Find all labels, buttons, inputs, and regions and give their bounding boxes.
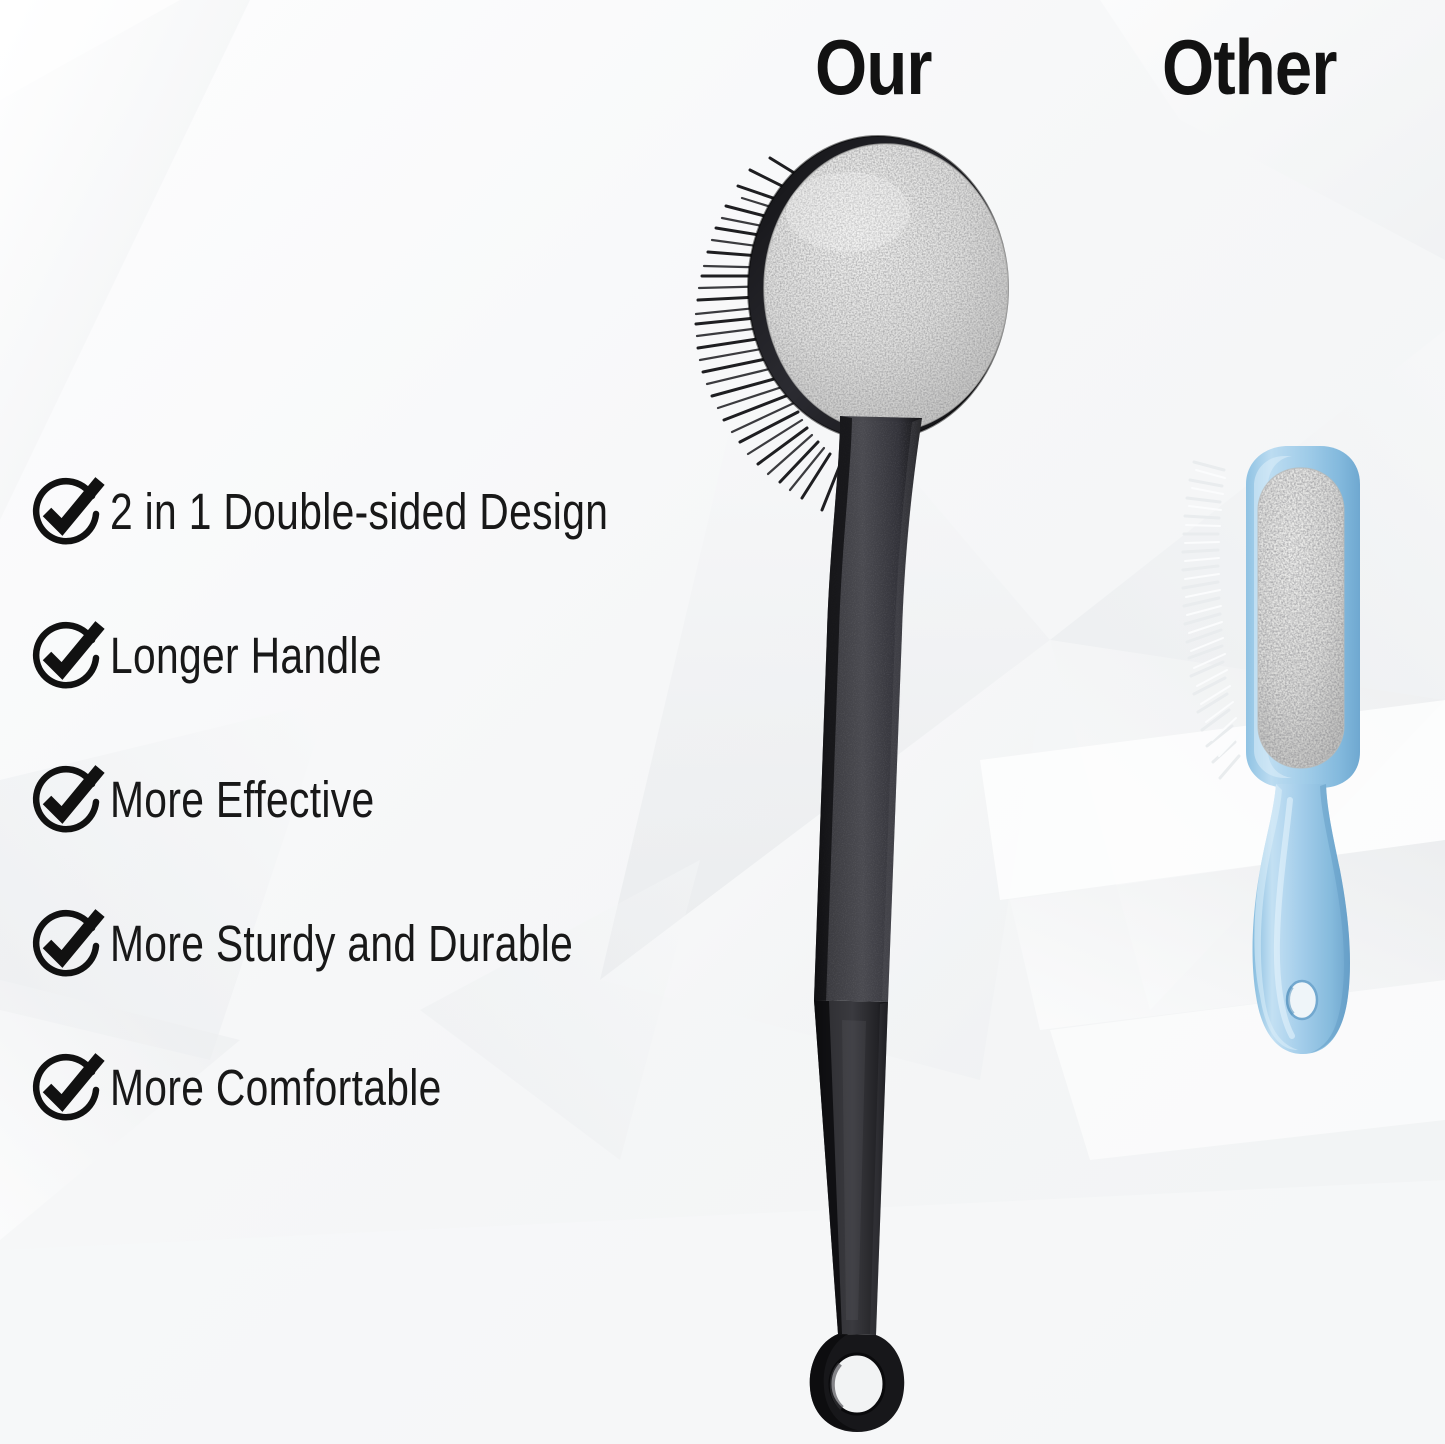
hang-hole-tip [810,1334,905,1432]
feature-label: 2 in 1 Double-sided Design [110,486,608,538]
check-circle-icon [30,764,102,836]
feature-label: More Effective [110,774,375,826]
hang-hole [1287,981,1317,1019]
header-other: Other [1162,28,1337,106]
feature-label: More Comfortable [110,1062,442,1114]
header-ours: Our [815,28,932,106]
check-circle-icon [30,1052,102,1124]
feature-label: Longer Handle [110,630,382,682]
our-product-image [690,120,1090,1444]
other-product-image [1180,440,1410,1080]
check-circle-icon [30,476,102,548]
feature-label: More Sturdy and Durable [110,918,573,970]
product-comparison-image: Our Other 2 in 1 Double-sided Design Lon… [0,0,1445,1444]
check-circle-icon [30,908,102,980]
pumice-stone-pad [1250,460,1356,780]
bristle-tuft [1185,470,1240,756]
check-circle-icon [30,620,102,692]
